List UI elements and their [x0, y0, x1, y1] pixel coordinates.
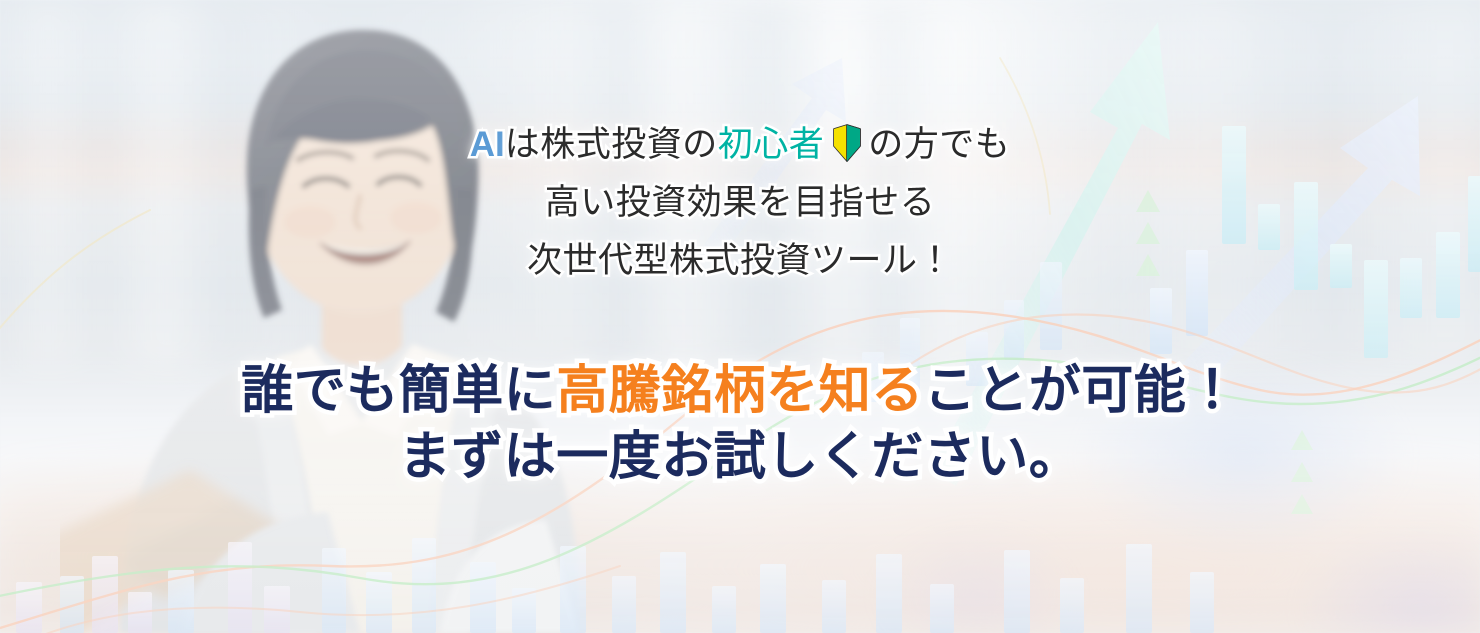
subhead-line-2: 高い投資効果を目指せる [0, 174, 1480, 232]
headline-block: 誰でも簡単に高騰銘柄を知ることが可能！ まずは一度お試しください。 [0, 358, 1480, 490]
headline-line-1: 誰でも簡単に高騰銘柄を知ることが可能！ [0, 358, 1480, 424]
subhead-line-3: 次世代型株式投資ツール！ [0, 232, 1480, 290]
headline-prefix: 誰でも簡単に [241, 362, 556, 420]
subhead-line-1-after: の方でも [868, 125, 1010, 164]
subhead-line-1-before: は株式投資の [505, 125, 718, 164]
headline-highlight: 高騰銘柄を知る [556, 362, 924, 420]
hero-banner: AIは株式投資の初心者の方でも 高い投資効果を目指せる 次世代型株式投資ツール！… [0, 0, 1480, 633]
banner-copy: AIは株式投資の初心者の方でも 高い投資効果を目指せる 次世代型株式投資ツール！… [0, 0, 1480, 633]
headline-line-2: まずは一度お試しください。 [0, 424, 1480, 490]
headline-suffix: ことが可能！ [924, 362, 1239, 420]
beginner-mark-icon [832, 124, 862, 162]
subhead-block: AIは株式投資の初心者の方でも 高い投資効果を目指せる 次世代型株式投資ツール！ [0, 116, 1480, 290]
subhead-line-1: AIは株式投資の初心者の方でも [0, 116, 1480, 174]
ai-keyword: AI [470, 125, 505, 164]
beginner-keyword: 初心者 [718, 125, 825, 164]
